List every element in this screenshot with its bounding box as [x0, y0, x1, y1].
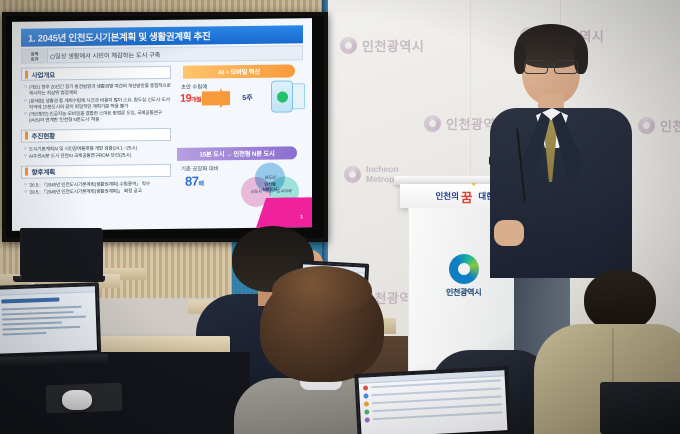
infographic-ai-mobile: AI + 모바일 혁신 초안 수립에 19개월 5주 [175, 64, 303, 142]
bullet-circle-icon: ○ [24, 146, 27, 152]
bullet-group-overview: ○(개요) 향후 20년간 장기 발전방향과 생활권별 여건의 개선방안을 종합… [21, 81, 171, 129]
status-dot-icon [364, 401, 369, 406]
section-marker-icon [25, 132, 28, 140]
infographic-banner-city: 15분 도시 → 인천형 N분 도시 [177, 146, 297, 160]
section-header-progress: 추진현황 [21, 127, 171, 142]
reporter-beige-head [584, 270, 656, 332]
laptop-lid-bottom-right [600, 382, 680, 434]
section-header-future-plan: 향후계획 [21, 163, 171, 178]
laptop-front-center [356, 370, 510, 434]
laptop-display [359, 370, 508, 434]
slide-canvas: 1. 2045년 인천도시기본계획 및 생활권계획 추진 정책 효과 일상 생활… [12, 18, 312, 231]
reporter-woman-hair-top [272, 266, 372, 316]
laptop-screen [354, 366, 511, 434]
slide-title-bar: 1. 2045년 인천도시기본계획 및 생활권계획 추진 [21, 25, 303, 46]
bullet-group-future-plan: ○'26.5.: 「2045년 인천도시기본계획(생활권계획) 수립용역」 착수… [21, 178, 171, 201]
bullet-circle-icon: ○ [24, 85, 27, 97]
speaker-glasses [524, 60, 578, 73]
bullet-circle-icon: ○ [24, 182, 27, 188]
slide-title-text: 1. 2045년 인천도시기본계획 및 생활권계획 추진 [28, 28, 210, 44]
bullet-item: ○(개요) 향후 20년간 장기 발전방향과 생활권별 여건의 개선방안을 종합… [24, 83, 171, 97]
phone-check-icon [271, 80, 293, 112]
incheon-swirl-icon [424, 115, 441, 132]
bullet-item: ○(개선방안) 인공지능·모바일을 결합한 스마트 방법론 도입, 국제공동연구… [24, 110, 171, 124]
doc-text-line [2, 321, 62, 325]
policy-effect-bar: 정책 효과 일상 생활에서 시민이 체감하는 도시 구축 [21, 45, 303, 63]
bullet-group-progress: ○도시기본계획AI 및 시민참여플랫폼 개발 검증(24.1.~25.4.) ○… [21, 142, 171, 165]
section-marker-icon [25, 168, 28, 176]
infographic-banner-ai: AI + 모바일 혁신 [183, 64, 295, 78]
bullet-item: ○AI주관AI분 도시 관련AI 국제공동연구ROM 당선(25.4.) [24, 152, 171, 160]
doc-toolbar [0, 286, 95, 295]
backdrop-watermark-4: 인천광역시 [638, 116, 680, 135]
laptop-screen [0, 282, 101, 358]
bullet-item: ○'26.5.: 「2045년 인천도시기본계획(생활권계획) 수립용역」 착수 [24, 180, 171, 188]
doc-text-line [2, 316, 86, 321]
doc-text-line [2, 332, 46, 336]
bullet-item: ○(문제점) 생활권 등 계획수립에 시간과 비용이 많이 소요, 원도심·신도… [24, 96, 171, 110]
bullet-circle-icon: ○ [24, 98, 27, 110]
slide-subtitle: 일상 생활에서 시민이 체감하는 도시 구축 [48, 50, 160, 60]
bullet-circle-icon: ○ [24, 190, 27, 196]
laptop-screen [20, 228, 102, 276]
bullet-circle-icon: ○ [24, 154, 27, 160]
incheon-swirl-icon [344, 166, 361, 183]
doc-text-line [2, 326, 80, 331]
value-after: 5주 [242, 93, 252, 103]
incheon-logo-icon [449, 254, 479, 284]
computer-mouse [62, 390, 92, 410]
laptop-front-left [0, 284, 108, 365]
speaker-person [486, 24, 636, 274]
doc-text-line [2, 311, 74, 316]
slide-page-number: 1 [300, 214, 303, 220]
laptop-back-left [20, 228, 105, 282]
press-briefing-screenshot: 인천광역시 인천광역시 인천광역시 인천광역시 인천광역시 Incheon Me… [0, 0, 680, 434]
podium-logo: 인천광역시 [446, 254, 481, 298]
slogan-part-2: 꿈 [461, 187, 473, 206]
laptop-display [22, 230, 103, 280]
venn-center-label: 인천형 N분도시 [255, 175, 285, 197]
podium-logo-text: 인천광역시 [446, 287, 481, 298]
speaker-hand [494, 220, 524, 246]
value-before: 19개월 [180, 93, 201, 105]
policy-effect-tag: 정책 효과 [22, 49, 48, 62]
bullet-item: ○'28.5.: 「2045년 인천도시기본계획(생활권계획)」 확정 공고 [24, 188, 171, 196]
slogan-part-1: 인천의 [435, 190, 458, 202]
bullet-circle-icon: ○ [24, 112, 27, 124]
slide-left-column: 사업개요 ○(개요) 향후 20년간 장기 발전방향과 생활권별 여건의 개선방… [21, 66, 171, 201]
incheon-swirl-icon [638, 117, 655, 134]
status-dot-icon [363, 393, 368, 398]
status-dot-icon [365, 417, 370, 422]
doc-text-line [2, 306, 82, 311]
bullet-item: ○도시기본계획AI 및 시민참여플랫폼 개발 검증(24.1.~25.4.) [24, 144, 171, 152]
status-dot-icon [364, 409, 369, 414]
incheon-swirl-icon [340, 37, 357, 54]
section-header-overview: 사업개요 [21, 66, 171, 81]
laptop-display [0, 286, 97, 353]
section-marker-icon [25, 70, 28, 78]
backdrop-watermark-1: 인천광역시 [340, 36, 424, 55]
doc-title-line [1, 298, 59, 304]
presentation-screen: 1. 2045년 인천도시기본계획 및 생활권계획 추진 정책 효과 일상 생활… [2, 12, 328, 242]
arrow-right-icon [202, 91, 230, 105]
status-dot-icon [363, 385, 368, 390]
